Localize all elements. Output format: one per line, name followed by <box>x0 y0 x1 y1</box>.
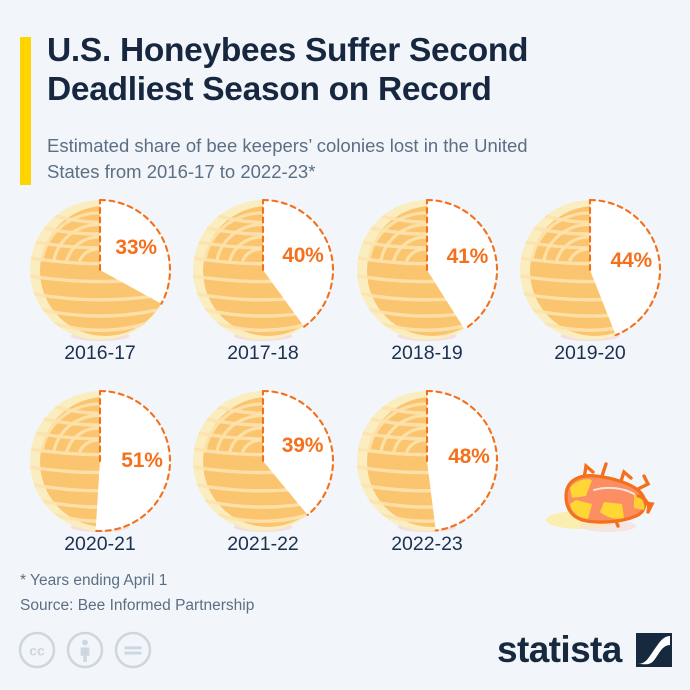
pie-percent-label-2020-21: 51% <box>108 449 176 473</box>
page-title: U.S. Honeybees Suffer Second Deadliest S… <box>47 31 672 109</box>
pie-sphere-2016-17 <box>18 196 182 344</box>
title-accent-bar <box>20 37 31 185</box>
pie-year-label-2017-18: 2017-18 <box>181 342 345 365</box>
pie-percent-label-2017-18: 40% <box>269 244 337 268</box>
pie-year-label-2018-19: 2018-19 <box>345 342 509 365</box>
pie-sphere-2017-18 <box>181 196 345 344</box>
title-line-2: Deadliest Season on Record <box>47 70 672 109</box>
statista-logo[interactable]: statista <box>497 628 672 672</box>
attribution-icon[interactable] <box>66 631 104 669</box>
pie-chart-2019-20: 44%2019-20 <box>508 196 672 371</box>
pie-chart-2018-19: 41%2018-19 <box>345 196 509 371</box>
subtitle-line-2: States from 2016-17 to 2022-23* <box>47 159 672 185</box>
pie-chart-2016-17: 33%2016-17 <box>18 196 182 371</box>
pie-chart-2021-22: 39%2021-22 <box>181 387 345 562</box>
no-derivatives-icon[interactable] <box>114 631 152 669</box>
pie-sphere-2021-22 <box>181 387 345 535</box>
pie-percent-label-2016-17: 33% <box>102 236 170 260</box>
pie-sphere-2018-19 <box>345 196 509 344</box>
pie-percent-label-2022-23: 48% <box>435 445 503 469</box>
pie-chart-2022-23: 48%2022-23 <box>345 387 509 562</box>
pie-year-label-2016-17: 2016-17 <box>18 342 182 365</box>
footnote-source: Source: Bee Informed Partnership <box>20 593 500 618</box>
creative-commons-icon[interactable]: cc <box>18 631 56 669</box>
footnote-years: * Years ending April 1 <box>20 568 500 593</box>
pie-year-label-2022-23: 2022-23 <box>345 533 509 556</box>
pie-year-label-2021-22: 2021-22 <box>181 533 345 556</box>
footnotes: * Years ending April 1 Source: Bee Infor… <box>20 568 500 618</box>
statista-wordmark: statista <box>497 628 622 672</box>
pie-year-label-2019-20: 2019-20 <box>508 342 672 365</box>
pie-chart-2017-18: 40%2017-18 <box>181 196 345 371</box>
pie-chart-2020-21: 51%2020-21 <box>18 387 182 562</box>
title-line-1: U.S. Honeybees Suffer Second <box>47 31 672 70</box>
statista-mark-icon <box>636 633 672 667</box>
pie-year-label-2020-21: 2020-21 <box>18 533 182 556</box>
pie-percent-label-2018-19: 41% <box>433 245 501 269</box>
subtitle-line-1: Estimated share of bee keepers’ colonies… <box>47 133 672 159</box>
header: U.S. Honeybees Suffer Second Deadliest S… <box>0 0 690 196</box>
dead-bee-illustration <box>536 446 666 546</box>
pie-percent-label-2021-22: 39% <box>269 434 337 458</box>
infographic-canvas: U.S. Honeybees Suffer Second Deadliest S… <box>0 0 690 690</box>
pie-percent-label-2019-20: 44% <box>597 249 665 273</box>
license-icons: cc <box>18 631 158 673</box>
svg-text:cc: cc <box>29 643 45 659</box>
page-subtitle: Estimated share of bee keepers’ colonies… <box>47 133 672 185</box>
